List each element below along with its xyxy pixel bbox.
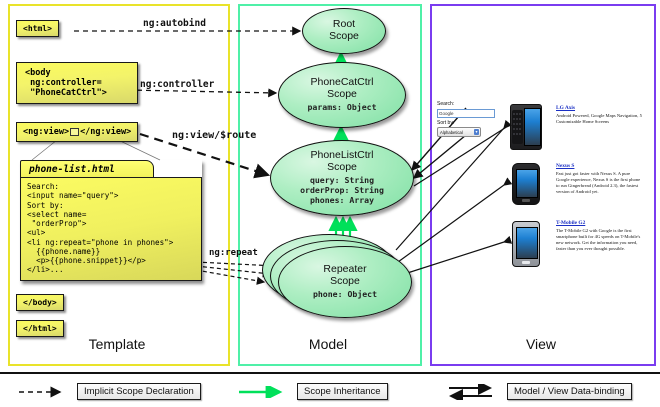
phone-list-item: Nexus S Fast just got faster with Nexus … <box>556 163 644 195</box>
sort-label: Sort by: <box>437 120 497 127</box>
scope-title: PhoneCatCtrl Scope <box>310 77 373 100</box>
scope-properties: query: String orderProp: String phones: … <box>300 176 384 206</box>
sort-select[interactable]: Alphabetical ▾ <box>437 127 481 137</box>
edge-bind-phone-1 <box>396 128 504 250</box>
code-text: </html> <box>23 324 57 333</box>
phone-snippet: Android Powered, Google Maps Navigation,… <box>556 113 644 125</box>
search-input[interactable]: Google <box>437 109 495 118</box>
code-text: </body> <box>23 298 57 307</box>
phone-snippet: The T-Mobile G2 with Google is the first… <box>556 228 644 252</box>
file-card-title: phone-list.html <box>20 160 154 177</box>
search-label: Search: <box>437 101 497 108</box>
edge-bind-orderprop <box>414 135 466 178</box>
phone-name-link[interactable]: LG Axis <box>556 105 644 111</box>
scope-properties: phone: Object <box>313 290 377 300</box>
edge-label-route: ng:view/$route <box>172 130 256 141</box>
code-box-html-open: <html> <box>16 20 59 37</box>
chevron-down-icon: ▾ <box>474 129 479 135</box>
edge-bind-phone-2 <box>398 185 504 262</box>
sort-select-value: Alphabetical <box>440 130 463 135</box>
scope-title: Repeater Scope <box>323 264 366 287</box>
edge-repeat-2 <box>196 266 270 274</box>
search-panel: Search: Google Sort by: Alphabetical ▾ <box>437 101 497 137</box>
edge-label-controller: ng:controller <box>140 79 214 90</box>
scope-repeater: Repeater Scope phone: Object <box>278 246 412 318</box>
scope-title: PhoneListCtrl Scope <box>310 150 373 173</box>
phone-list-item: LG Axis Android Powered, Google Maps Nav… <box>556 105 644 125</box>
code-box-body-close: </body> <box>16 294 64 311</box>
edge-bind-phone-3 <box>398 242 504 276</box>
scope-phonelistctrl: PhoneListCtrl Scope query: String orderP… <box>270 140 414 216</box>
file-card-phone-list: phone-list.html Search: <input name="que… <box>20 160 202 281</box>
phone-name-link[interactable]: T-Mobile G2 <box>556 220 644 226</box>
edge-label-repeat: ng:repeat <box>209 248 258 258</box>
scope-title: Root Scope <box>329 19 359 42</box>
edge-controller <box>128 90 276 93</box>
phone-snippet: Fast just got faster with Nexus S. A pur… <box>556 171 644 195</box>
ngview-line: <ng:view> </ng:view> <box>23 127 131 137</box>
scope-root: Root Scope <box>302 8 386 54</box>
edge-label-autobind: ng:autobind <box>143 18 206 29</box>
code-box-body-open: <body ng:controller= "PhoneCatCtrl"> <box>16 62 138 104</box>
scope-phonecatctrl: PhoneCatCtrl Scope params: Object <box>278 62 406 128</box>
ngview-close-tag: </ng:view> <box>80 127 131 137</box>
phone-name-link[interactable]: Nexus S <box>556 163 644 169</box>
code-box-html-close: </html> <box>16 320 64 337</box>
code-text: <body ng:controller= "PhoneCatCtrl"> <box>25 68 129 98</box>
placeholder-square-icon <box>70 128 79 136</box>
diagram-canvas: ng:autobind ng:controller ng:view/$route… <box>0 0 660 405</box>
code-box-ngview: <ng:view> </ng:view> <box>16 122 138 142</box>
ngview-open-tag: <ng:view> <box>23 127 69 137</box>
scope-properties: params: Object <box>307 103 376 113</box>
phone-list-item: T-Mobile G2 The T-Mobile G2 with Google … <box>556 220 644 252</box>
file-card-code: Search: <input name="query"> Sort by: <s… <box>20 177 202 281</box>
code-text: <html> <box>23 24 52 33</box>
